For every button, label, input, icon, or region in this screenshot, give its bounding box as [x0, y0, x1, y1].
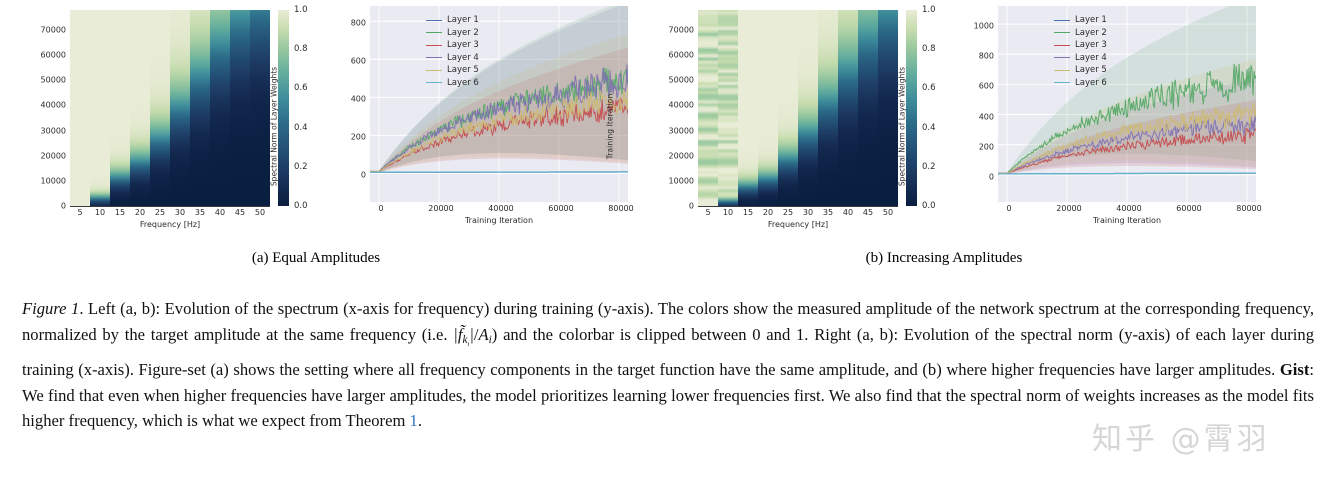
linechart-svg	[998, 6, 1256, 202]
heatmap-column	[90, 10, 111, 206]
heatmap-ytick: 40000	[669, 101, 694, 110]
heatmap-xtick: 40	[843, 208, 853, 217]
colorbar-tick: 0.4	[294, 123, 308, 133]
heatmap-ytick: 0	[689, 202, 694, 211]
heatmap-ytick: 60000	[669, 51, 694, 60]
heatmap-column	[838, 10, 859, 206]
heatmap-ytick: 0	[61, 202, 66, 211]
linechart-xtick: 20000	[1056, 204, 1081, 213]
linechart-xtick: 20000	[428, 204, 453, 213]
colorbar-tick: 0.6	[294, 83, 308, 93]
legend-label: Layer 3	[447, 40, 479, 50]
heatmap-b-colorbar: 0.00.20.40.60.81.0	[906, 10, 956, 206]
colorbar-tick: 0.2	[294, 162, 308, 172]
legend-item[interactable]: Layer 6	[426, 77, 479, 90]
caption-math-expression: |f̃ki|/Ai	[453, 325, 492, 344]
legend-color-swatch-icon	[1054, 70, 1070, 71]
legend-color-swatch-icon	[426, 45, 442, 46]
heatmap-xtick: 10	[95, 208, 105, 217]
heatmap-b: Training Iteration 010000200003000040000…	[636, 4, 956, 240]
heatmap-column	[818, 10, 839, 206]
linechart-svg	[370, 6, 628, 202]
linechart-xtick: 40000	[488, 204, 513, 213]
legend-item[interactable]: Layer 6	[1054, 77, 1107, 90]
legend-color-swatch-icon	[1054, 57, 1070, 58]
heatmap-xtick: 45	[863, 208, 873, 217]
heatmap-xtick: 50	[883, 208, 893, 217]
heatmap-ytick: 10000	[669, 176, 694, 185]
heatmap-column	[250, 10, 270, 206]
legend-item[interactable]: Layer 4	[1054, 52, 1107, 65]
linechart-b-xticks: 020000400006000080000	[998, 204, 1256, 216]
heatmap-column	[758, 10, 779, 206]
legend-color-swatch-icon	[426, 32, 442, 33]
heatmap-column	[778, 10, 799, 206]
linechart-a-xticks: 020000400006000080000	[370, 204, 628, 216]
subcaption-b: (b) Increasing Amplitudes	[744, 250, 1144, 267]
heatmap-b-ylabel: Training Iteration	[606, 47, 615, 207]
linechart-b-xlabel: Training Iteration	[998, 216, 1256, 225]
heatmap-a-xaxis-line	[70, 206, 270, 207]
legend-color-swatch-icon	[426, 20, 442, 21]
linechart-ytick: 800	[979, 52, 994, 61]
legend-color-swatch-icon	[1054, 20, 1070, 21]
legend-label: Layer 4	[1075, 53, 1107, 63]
legend-item[interactable]: Layer 3	[426, 39, 479, 52]
heatmap-a-yticks: 010000200003000040000500006000070000	[22, 10, 68, 206]
heatmap-xtick: 30	[803, 208, 813, 217]
heatmap-xtick: 45	[235, 208, 245, 217]
heatmap-b-xaxis-line	[698, 206, 898, 207]
linechart-ytick: 600	[351, 57, 366, 66]
legend-color-swatch-icon	[1054, 82, 1070, 83]
linechart-b-yticks: 02004006008001000	[958, 10, 996, 196]
heatmap-b-xlabel: Frequency [Hz]	[698, 220, 898, 229]
legend-label: Layer 4	[447, 53, 479, 63]
heatmap-xtick: 35	[823, 208, 833, 217]
subcaption-a: (a) Equal Amplitudes	[116, 250, 516, 267]
heatmap-xtick: 30	[175, 208, 185, 217]
heatmap-column	[858, 10, 879, 206]
legend-label: Layer 6	[1075, 78, 1107, 88]
legend-color-swatch-icon	[426, 70, 442, 71]
heatmap-column	[150, 10, 171, 206]
legend-label: Layer 1	[1075, 15, 1107, 25]
heatmap-column	[878, 10, 898, 206]
heatmap-column	[230, 10, 251, 206]
legend-item[interactable]: Layer 1	[426, 14, 479, 27]
heatmap-b-colorbar-gradient	[906, 10, 917, 206]
heatmap-xtick: 50	[255, 208, 265, 217]
colorbar-tick: 0.0	[922, 201, 936, 211]
heatmap-column	[110, 10, 131, 206]
heatmap-xtick: 15	[743, 208, 753, 217]
linechart-ytick: 0	[361, 171, 366, 180]
legend-label: Layer 2	[447, 28, 479, 38]
heatmap-a: Training Iteration 010000200003000040000…	[8, 4, 328, 240]
legend-item[interactable]: Layer 2	[1054, 27, 1107, 40]
heatmap-column	[70, 10, 91, 206]
heatmap-ytick: 30000	[669, 126, 694, 135]
legend-item[interactable]: Layer 2	[426, 27, 479, 40]
heatmap-column	[190, 10, 211, 206]
heatmap-xtick: 25	[155, 208, 165, 217]
caption-part-4: .	[418, 411, 422, 430]
legend-label: Layer 3	[1075, 40, 1107, 50]
colorbar-tick: 0.8	[294, 44, 308, 54]
linechart-ytick: 600	[979, 82, 994, 91]
linechart-xtick: 60000	[1176, 204, 1201, 213]
legend-item[interactable]: Layer 3	[1054, 39, 1107, 52]
heatmap-column	[718, 10, 739, 206]
subfigure-b: Training Iteration 010000200003000040000…	[628, 0, 1288, 245]
heatmap-column	[170, 10, 191, 206]
heatmap-a-colorbar-gradient	[278, 10, 289, 206]
heatmap-a-colorbar: 0.00.20.40.60.81.0	[278, 10, 328, 206]
heatmap-b-yticks: 010000200003000040000500006000070000	[650, 10, 696, 206]
linechart-a-yticks: 0200400600800	[330, 10, 368, 196]
heatmap-xtick: 10	[723, 208, 733, 217]
legend-label: Layer 5	[1075, 65, 1107, 75]
linechart-series-path	[998, 173, 1256, 174]
linechart-b-ylabel: Spectral Norm of Layer Weights	[898, 32, 907, 222]
heatmap-ytick: 20000	[41, 151, 66, 160]
heatmap-b-plot-area	[698, 10, 898, 206]
legend-label: Layer 6	[447, 78, 479, 88]
legend-label: Layer 1	[447, 15, 479, 25]
heatmap-column	[210, 10, 231, 206]
colorbar-tick: 0.6	[922, 83, 936, 93]
linechart-xtick: 0	[1006, 204, 1011, 213]
linechart-a-ylabel: Spectral Norm of Layer Weights	[270, 32, 279, 222]
legend-color-swatch-icon	[426, 82, 442, 83]
heatmap-column	[130, 10, 151, 206]
heatmap-b-xticks: 5101520253035404550	[698, 208, 898, 220]
linechart-xtick: 80000	[1236, 204, 1261, 213]
legend-label: Layer 5	[447, 65, 479, 75]
linechart-ytick: 800	[351, 19, 366, 28]
heatmap-ytick: 70000	[669, 26, 694, 35]
heatmap-xtick: 5	[77, 208, 82, 217]
linechart-ytick: 1000	[974, 22, 994, 31]
legend-color-swatch-icon	[426, 57, 442, 58]
linechart-ytick: 400	[351, 95, 366, 104]
colorbar-tick: 0.2	[922, 162, 936, 172]
linechart-a-legend: Layer 1Layer 2Layer 3Layer 4Layer 5Layer…	[426, 14, 479, 89]
linechart-ytick: 0	[989, 172, 994, 181]
legend-item[interactable]: Layer 1	[1054, 14, 1107, 27]
heatmap-xtick: 25	[783, 208, 793, 217]
colorbar-tick: 1.0	[294, 5, 308, 15]
heatmap-a-xticks: 5101520253035404550	[70, 208, 270, 220]
linechart-a-plot-area: Layer 1Layer 2Layer 3Layer 4Layer 5Layer…	[370, 6, 628, 202]
legend-item[interactable]: Layer 4	[426, 52, 479, 65]
heatmap-ytick: 70000	[41, 26, 66, 35]
heatmap-a-plot-area	[70, 10, 270, 206]
linechart-b: Spectral Norm of Layer Weights 020040060…	[954, 4, 1284, 240]
heatmap-ytick: 10000	[41, 176, 66, 185]
heatmap-xtick: 40	[215, 208, 225, 217]
heatmap-xtick: 15	[115, 208, 125, 217]
heatmap-column	[798, 10, 819, 206]
linechart-xtick: 60000	[548, 204, 573, 213]
colorbar-tick: 1.0	[922, 5, 936, 15]
subfigure-a: Training Iteration 010000200003000040000…	[0, 0, 660, 245]
colorbar-tick: 0.8	[922, 44, 936, 54]
heatmap-xtick: 35	[195, 208, 205, 217]
heatmap-xtick: 5	[705, 208, 710, 217]
theorem-reference-link[interactable]: 1	[410, 411, 418, 430]
heatmap-ytick: 30000	[41, 126, 66, 135]
heatmap-b-colorbar-ticks: 0.00.20.40.60.81.0	[920, 10, 954, 206]
legend-item[interactable]: Layer 5	[1054, 64, 1107, 77]
linechart-ytick: 200	[979, 142, 994, 151]
legend-label: Layer 2	[1075, 28, 1107, 38]
heatmap-ytick: 60000	[41, 51, 66, 60]
heatmap-column	[698, 10, 719, 206]
linechart-a-xlabel: Training Iteration	[370, 216, 628, 225]
legend-item[interactable]: Layer 5	[426, 64, 479, 77]
heatmap-ytick: 40000	[41, 101, 66, 110]
heatmap-ytick: 50000	[41, 76, 66, 85]
linechart-b-plot-area: Layer 1Layer 2Layer 3Layer 4Layer 5Layer…	[998, 6, 1256, 202]
figure-number: Figure 1	[22, 299, 79, 318]
colorbar-tick: 0.0	[294, 201, 308, 211]
caption-gist-label: Gist	[1280, 360, 1310, 379]
colorbar-tick: 0.4	[922, 123, 936, 133]
figure-caption: Figure 1. Left (a, b): Evolution of the …	[22, 296, 1314, 434]
linechart-xtick: 0	[378, 204, 383, 213]
heatmap-xtick: 20	[135, 208, 145, 217]
linechart-xtick: 40000	[1116, 204, 1141, 213]
heatmap-column	[738, 10, 759, 206]
heatmap-xtick: 20	[763, 208, 773, 217]
linechart-ytick: 400	[979, 112, 994, 121]
legend-color-swatch-icon	[1054, 32, 1070, 33]
linechart-ytick: 200	[351, 133, 366, 142]
figure-panel-row: Training Iteration 010000200003000040000…	[0, 0, 1336, 245]
legend-color-swatch-icon	[1054, 45, 1070, 46]
heatmap-ytick: 50000	[669, 76, 694, 85]
heatmap-a-xlabel: Frequency [Hz]	[70, 220, 270, 229]
heatmap-a-colorbar-ticks: 0.00.20.40.60.81.0	[292, 10, 326, 206]
linechart-b-legend: Layer 1Layer 2Layer 3Layer 4Layer 5Layer…	[1054, 14, 1107, 89]
heatmap-ytick: 20000	[669, 151, 694, 160]
